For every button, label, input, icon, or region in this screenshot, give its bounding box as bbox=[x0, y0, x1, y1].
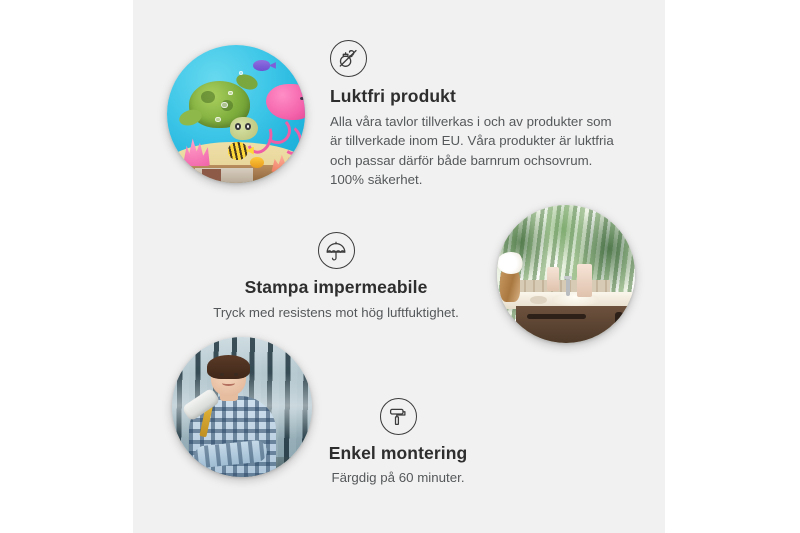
bubble bbox=[221, 102, 228, 109]
framed-picture-edge bbox=[195, 168, 253, 183]
white-flowers bbox=[497, 252, 525, 274]
no-fragrance-icon bbox=[330, 40, 367, 77]
umbrella-icon bbox=[318, 232, 355, 269]
underwater-illustration bbox=[167, 45, 305, 183]
small-yellow-fish bbox=[250, 157, 264, 168]
chrome-faucet bbox=[566, 278, 570, 296]
purple-fish bbox=[253, 60, 271, 71]
paint-roller-icon bbox=[380, 398, 417, 435]
feature-title: Enkel montering bbox=[300, 443, 496, 464]
feature-body: Färgdig på 60 minuter. bbox=[300, 468, 496, 487]
forest-illustration bbox=[172, 337, 312, 477]
striped-yellow-fish bbox=[228, 142, 249, 160]
feature-odour-free: Luktfri produkt Alla våra tavlor tillver… bbox=[330, 40, 622, 189]
sink-basin bbox=[552, 293, 599, 305]
feature-waterproof: Stampa impermeabile Tryck med resistens … bbox=[212, 232, 460, 322]
circular-photo-bathroom-leaf-wallpaper bbox=[497, 205, 635, 343]
wood-vanity-cabinet bbox=[516, 306, 635, 343]
circular-photo-painter-forest bbox=[172, 337, 312, 477]
hanging-towel bbox=[577, 264, 592, 297]
rolled-towel bbox=[547, 267, 559, 290]
octopus-body bbox=[266, 84, 305, 120]
octopus-eye bbox=[300, 97, 304, 100]
tile-backsplash bbox=[508, 280, 610, 292]
feature-title: Stampa impermeabile bbox=[212, 277, 460, 298]
hair bbox=[207, 355, 250, 379]
feature-body: Alla våra tavlor tillverkas i och av pro… bbox=[330, 112, 622, 189]
bubble bbox=[228, 91, 233, 96]
infographic-canvas: Luktfri produkt Alla våra tavlor tillver… bbox=[0, 0, 800, 533]
bathroom-illustration bbox=[497, 205, 635, 343]
circular-photo-underwater-cartoon bbox=[167, 45, 305, 183]
feature-title: Luktfri produkt bbox=[330, 86, 622, 107]
feature-easy-mounting: Enkel montering Färgdig på 60 minuter. bbox=[300, 398, 496, 487]
bubble bbox=[215, 117, 221, 123]
feature-body: Tryck med resistens mot hög luftfuktighe… bbox=[212, 303, 460, 322]
